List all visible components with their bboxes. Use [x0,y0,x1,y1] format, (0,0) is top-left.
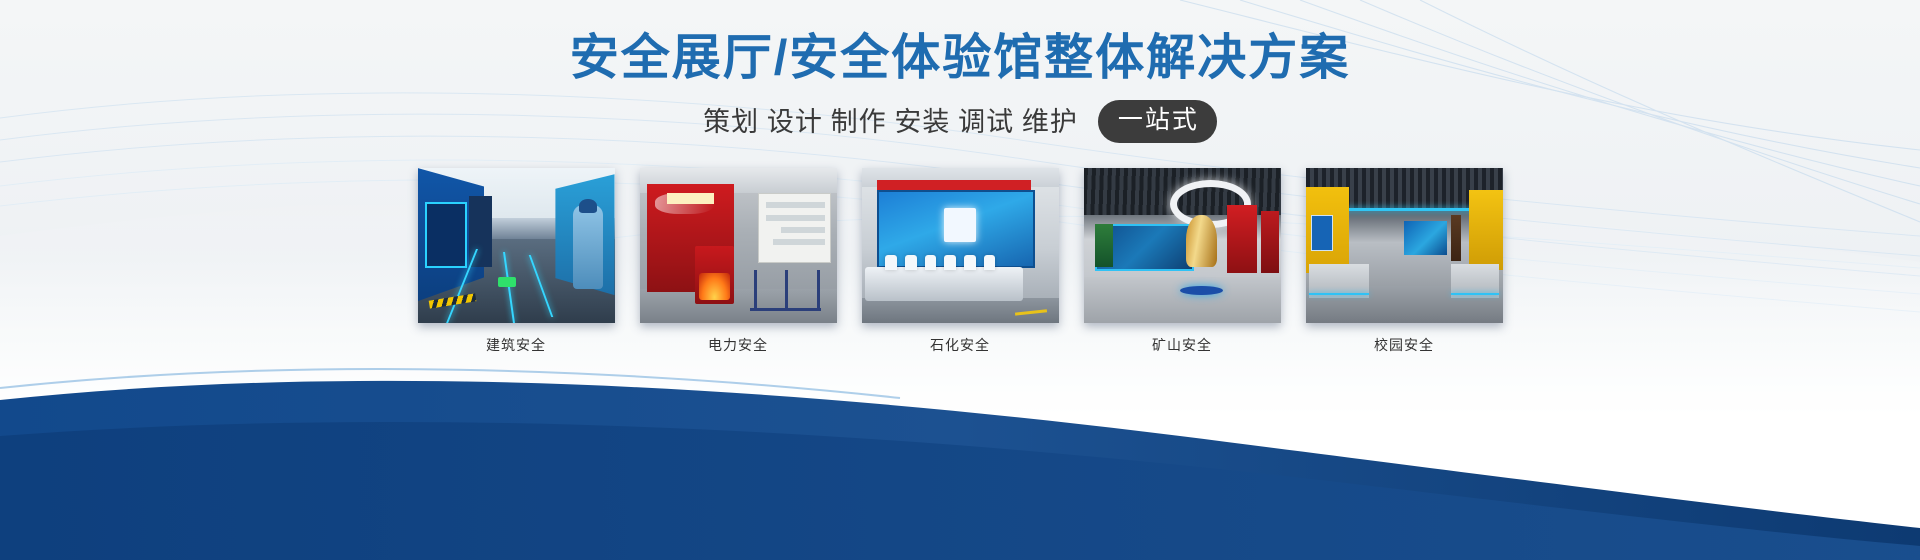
gallery-card-campus[interactable]: 校园安全 [1306,168,1503,354]
promo-banner: 安全展厅/安全体验馆整体解决方案 策划 设计 制作 安装 调试 维护 一站式 [0,0,1920,560]
service-list-text: 策划 设计 制作 安装 调试 维护 [703,102,1078,142]
thumbnail-construction-safety[interactable] [418,168,615,323]
banner-headline: 安全展厅/安全体验馆整体解决方案 [0,28,1920,88]
gallery-card-power[interactable]: 电力安全 [640,168,837,354]
thumbnail-power-safety[interactable] [640,168,837,323]
thumbnail-petrochemical-safety[interactable] [862,168,1059,323]
banner-subtitle-row: 策划 设计 制作 安装 调试 维护 一站式 [0,100,1920,143]
thumbnail-campus-safety[interactable] [1306,168,1503,323]
caption-petrochemical-safety: 石化安全 [862,336,1059,354]
gallery-card-construction[interactable]: 建筑安全 [418,168,615,354]
gallery-card-petrochemical[interactable]: 石化安全 [862,168,1059,354]
caption-mining-safety: 矿山安全 [1084,336,1281,354]
caption-campus-safety: 校园安全 [1306,336,1503,354]
caption-construction-safety: 建筑安全 [418,336,615,354]
caption-power-safety: 电力安全 [640,336,837,354]
scene-gallery: 建筑安全 [0,168,1920,354]
one-stop-badge: 一站式 [1098,100,1217,143]
gallery-card-mining[interactable]: 矿山安全 [1084,168,1281,354]
thumbnail-mining-safety[interactable] [1084,168,1281,323]
